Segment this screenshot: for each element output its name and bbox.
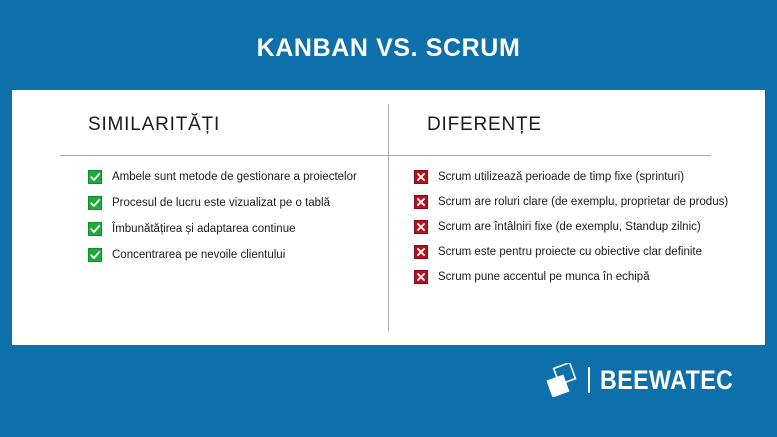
green-check-icon (88, 248, 102, 262)
list-item: Procesul de lucru este vizualizat pe o t… (88, 196, 378, 210)
column-heading-similarities: SIMILARITĂȚI (88, 114, 220, 136)
similarities-list: Ambele sunt metode de gestionare a proie… (88, 170, 378, 274)
list-item: Scrum are întâlniri fixe (de exemplu, St… (414, 220, 754, 234)
comparison-card: SIMILARITĂȚI DIFERENȚE Ambele sunt metod… (12, 90, 765, 345)
list-item-label: Procesul de lucru este vizualizat pe o t… (112, 196, 330, 210)
header-divider (60, 155, 711, 156)
page-title: KANBAN VS. SCRUM (0, 34, 777, 63)
list-item: Scrum pune accentul pe munca în echipă (414, 270, 754, 284)
brand-name: BEEWATEC (600, 365, 733, 396)
red-cross-icon (414, 170, 428, 184)
list-item: Ambele sunt metode de gestionare a proie… (88, 170, 378, 184)
list-item: Îmbunătățirea și adaptarea continue (88, 222, 378, 236)
green-check-icon (88, 196, 102, 210)
list-item: Concentrarea pe nevoile clientului (88, 248, 378, 262)
list-item: Scrum este pentru proiecte cu obiective … (414, 245, 754, 259)
green-check-icon (88, 170, 102, 184)
list-item-label: Ambele sunt metode de gestionare a proie… (112, 170, 357, 184)
differences-list: Scrum utilizează perioade de timp fixe (… (414, 170, 754, 295)
list-item: Scrum utilizează perioade de timp fixe (… (414, 170, 754, 184)
column-heading-differences: DIFERENȚE (427, 114, 542, 136)
list-item-label: Îmbunătățirea și adaptarea continue (112, 222, 295, 236)
list-item-label: Scrum are roluri clare (de exemplu, prop… (438, 195, 728, 209)
list-item-label: Scrum are întâlniri fixe (de exemplu, St… (438, 220, 701, 234)
green-check-icon (88, 222, 102, 236)
list-item-label: Scrum utilizează perioade de timp fixe (… (438, 170, 684, 184)
brand-logo: BEEWATEC (538, 358, 738, 402)
list-item: Scrum are roluri clare (de exemplu, prop… (414, 195, 754, 209)
infographic-slide: KANBAN VS. SCRUM SIMILARITĂȚI DIFERENȚE … (0, 0, 777, 437)
red-cross-icon (414, 220, 428, 234)
red-cross-icon (414, 195, 428, 209)
red-cross-icon (414, 270, 428, 284)
column-divider (388, 104, 389, 331)
list-item-label: Scrum pune accentul pe munca în echipă (438, 270, 650, 284)
red-cross-icon (414, 245, 428, 259)
list-item-label: Scrum este pentru proiecte cu obiective … (438, 245, 702, 259)
logo-divider (588, 367, 590, 393)
beewatec-rhombus-logo-icon (538, 363, 582, 397)
list-item-label: Concentrarea pe nevoile clientului (112, 248, 285, 262)
